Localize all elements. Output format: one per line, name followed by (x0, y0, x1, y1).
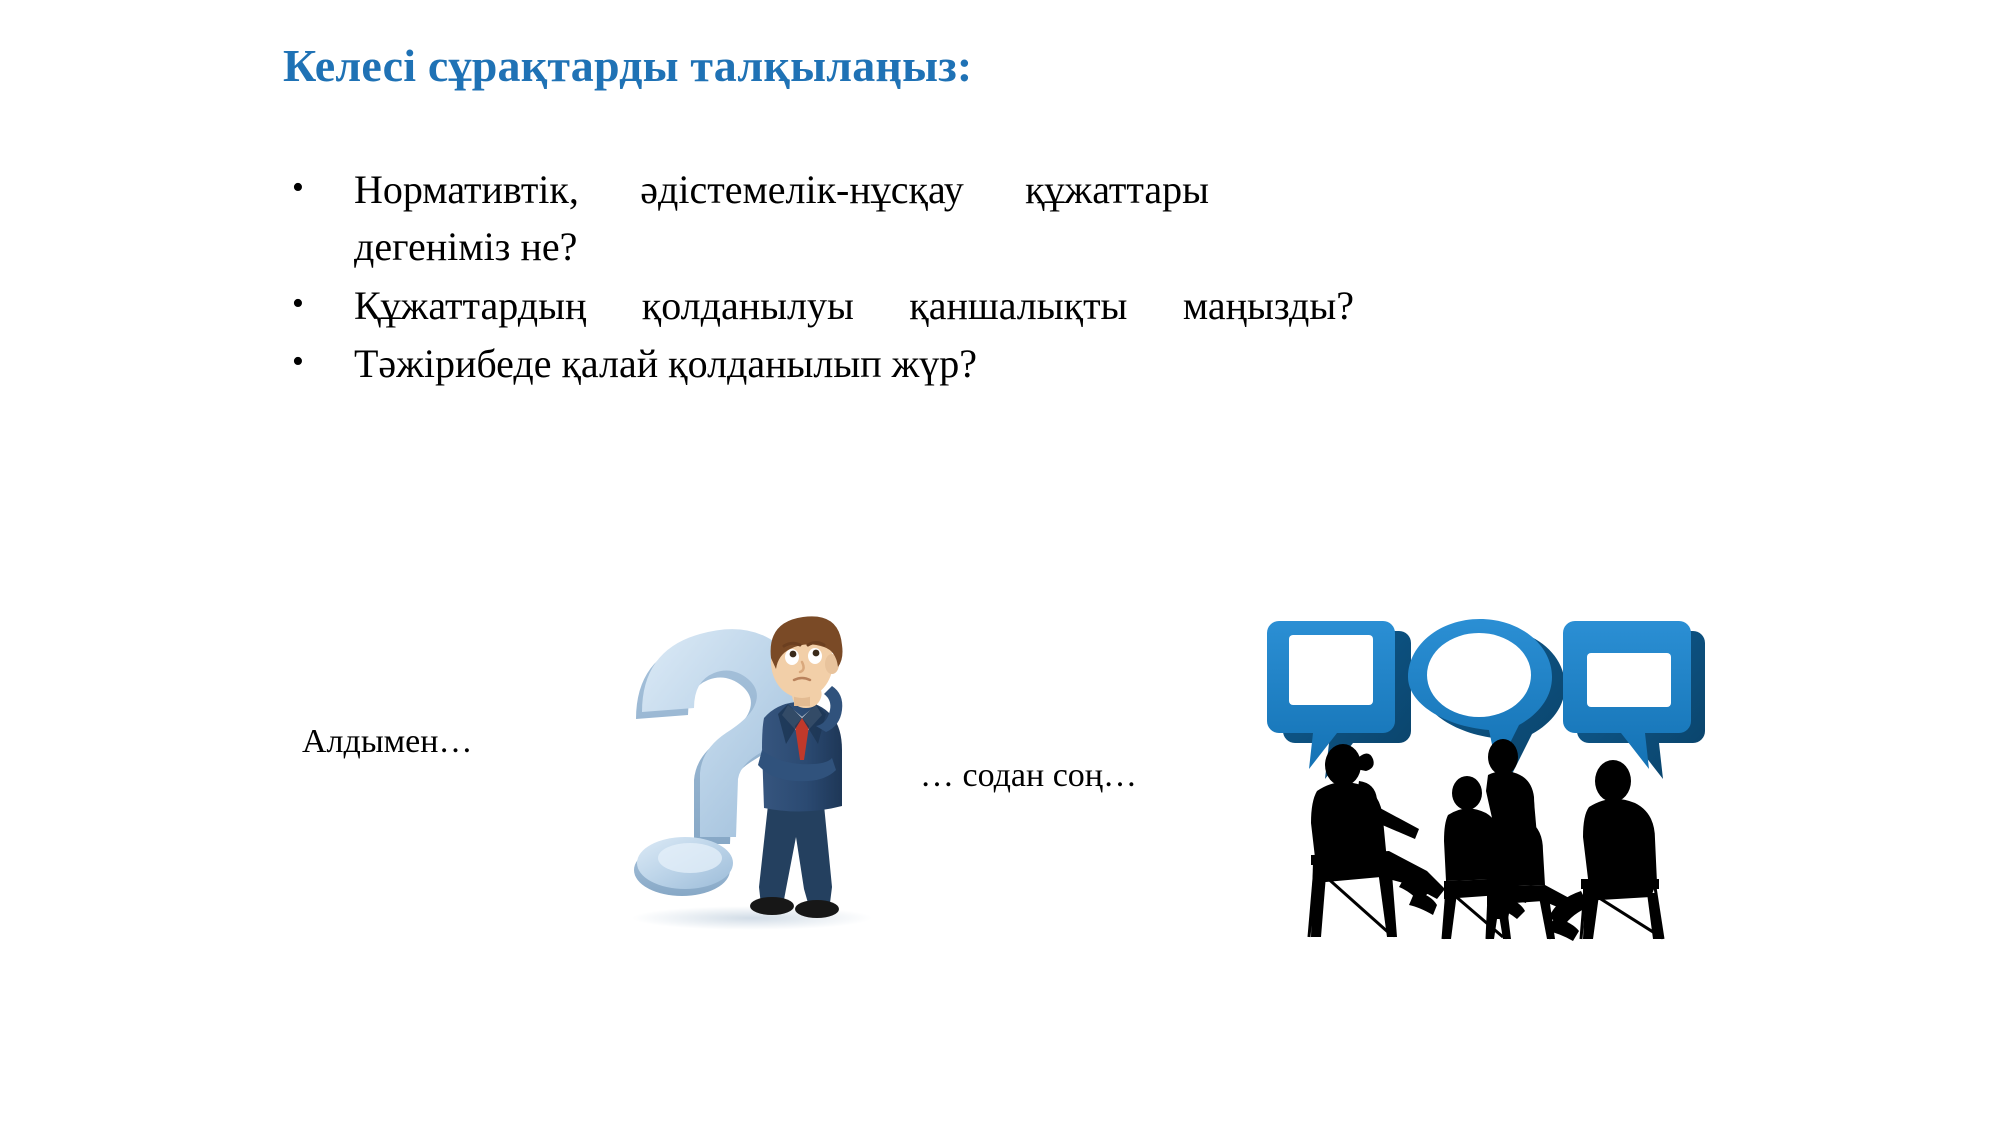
person-seated-left (1311, 744, 1445, 937)
bullet-marker-icon: • (292, 162, 354, 215)
page-title: Келесі сұрақтарды талқылаңыз: (283, 40, 1683, 93)
figure-pupil-right (813, 650, 820, 657)
list-item: • Құжаттардың қолданылуы қаншалықты маңы… (292, 278, 1692, 335)
question-mark-dot-highlight (658, 843, 722, 873)
list-item: • Нормативтік, әдістемелік-нұсқау құжатт… (292, 162, 1692, 276)
speech-bubble-right-inner (1587, 653, 1671, 707)
figure-shoe-right (795, 900, 839, 918)
list-item-line: Құжаттардың қолданылуы қаншалықты маңызд… (354, 278, 1354, 335)
list-item-text: Тәжірибеде қалай қолданылып жүр? (354, 336, 1692, 393)
figure-pupil-left (790, 651, 797, 658)
discussion-group-image (1255, 605, 1705, 950)
figure-trousers (759, 805, 832, 905)
figure-shoe-left (750, 897, 794, 915)
thinking-businessman-question-mark-image (612, 600, 902, 930)
caption-first-step: Алдымен… (302, 723, 472, 761)
bullet-marker-icon: • (292, 336, 354, 389)
list-item-text: Құжаттардың қолданылуы қаншалықты маңызд… (354, 278, 1354, 335)
list-item-line: дегеніміз не? (354, 219, 1209, 276)
slide-canvas: Келесі сұрақтарды талқылаңыз: • Норматив… (0, 0, 2000, 1125)
list-item-line: Нормативтік, әдістемелік-нұсқау құжаттар… (354, 162, 1209, 219)
list-item-line: Тәжірибеде қалай қолданылып жүр? (354, 341, 977, 386)
people-silhouettes (1309, 739, 1663, 941)
caption-next-step: … содан соң… (920, 757, 1137, 795)
bullet-marker-icon: • (292, 278, 354, 331)
list-item: • Тәжірибеде қалай қолданылып жүр? (292, 336, 1692, 393)
list-item-text: Нормативтік, әдістемелік-нұсқау құжаттар… (354, 162, 1209, 276)
speech-bubble-left-inner (1289, 635, 1373, 705)
question-list: • Нормативтік, әдістемелік-нұсқау құжатт… (292, 162, 1692, 395)
speech-bubble-round-center (1408, 619, 1565, 778)
person-seated-right (1547, 760, 1663, 941)
speech-bubble-square-right (1563, 621, 1705, 779)
speech-bubble-center-inner (1427, 633, 1531, 717)
